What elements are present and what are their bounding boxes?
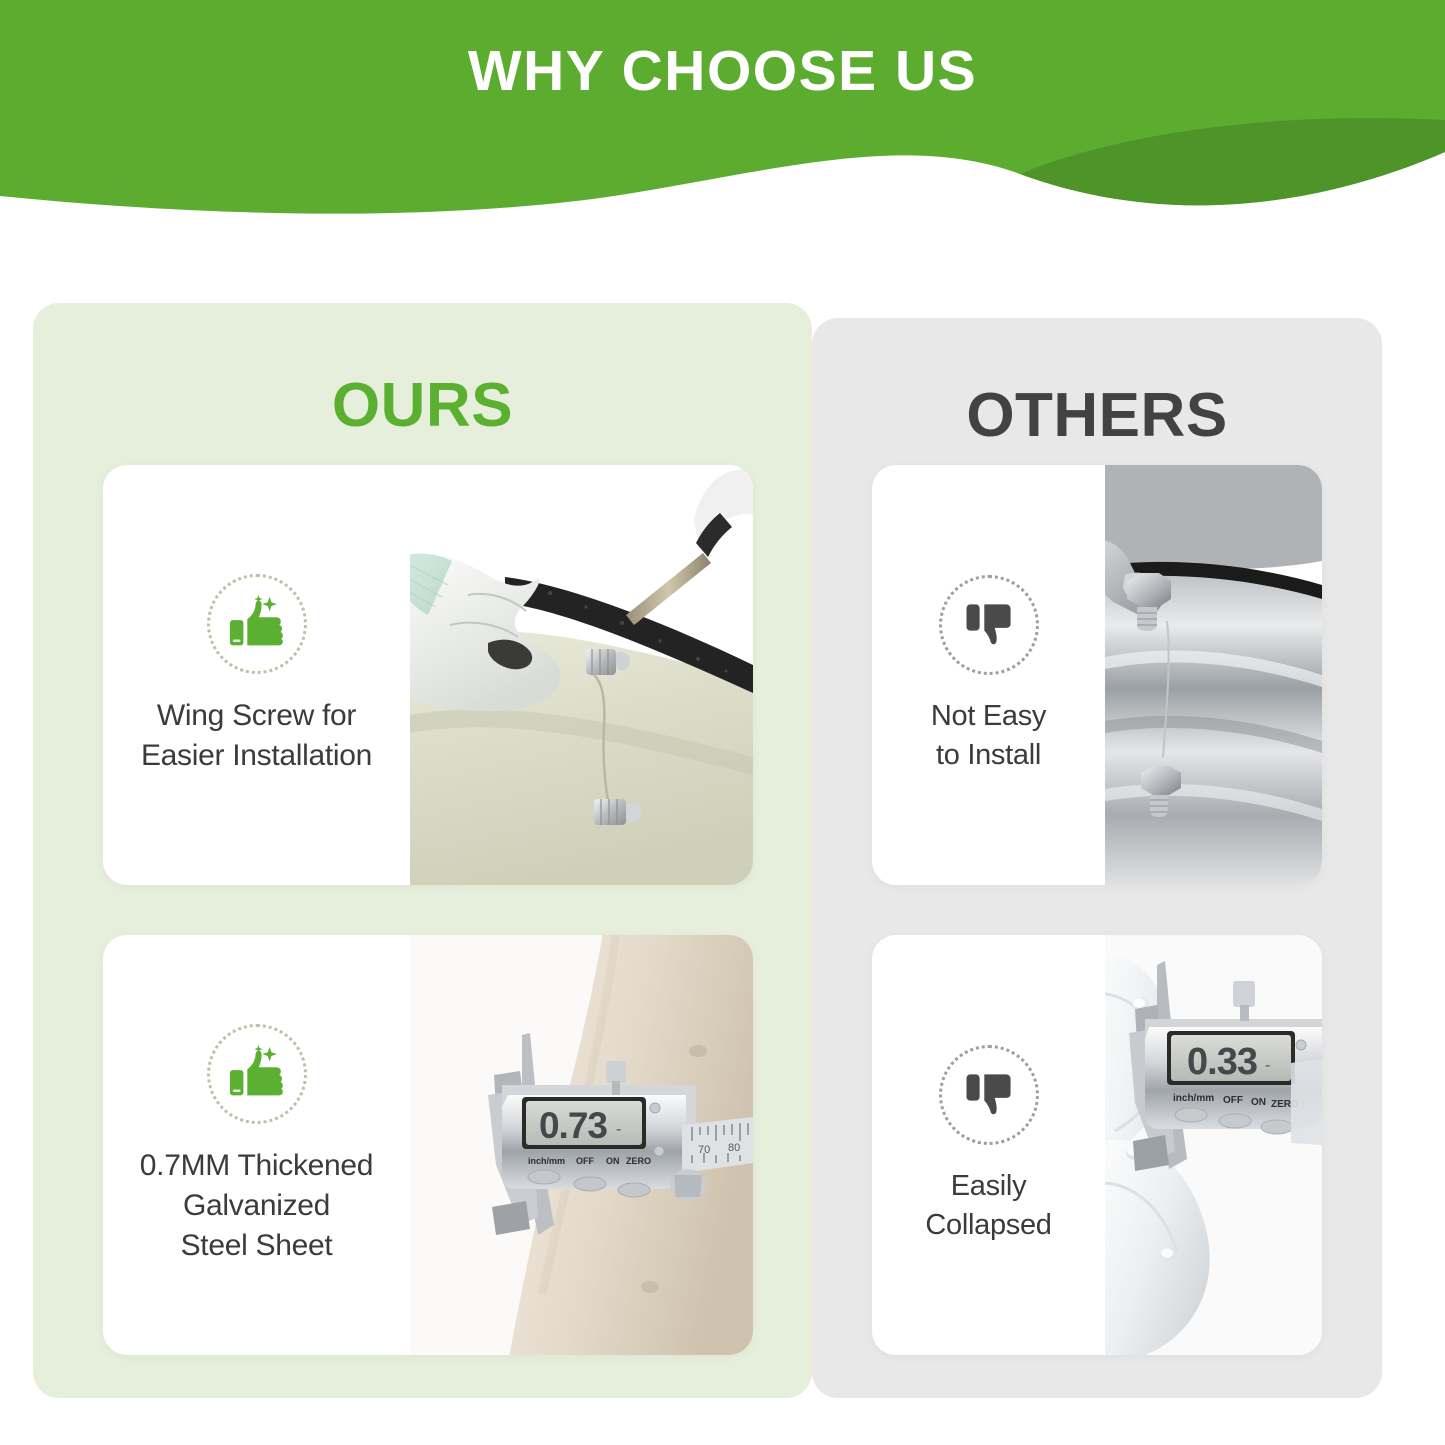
card-ours-wing-screw-content: Wing Screw for Easier Installation — [103, 465, 410, 885]
card-others-install[interactable]: Not Easy to Install — [872, 465, 1322, 885]
ruler-tick-70: 70 — [698, 1144, 710, 1156]
card-ours-thickness[interactable]: 0.7MM Thickened Galvanized Steel Sheet — [103, 935, 753, 1355]
caliper-reading-value: 0.73 — [539, 1105, 607, 1146]
card-others-install-label: Not Easy to Install — [931, 697, 1046, 774]
caliper-thin-photo-graphic: 0.33 - inch/mm OFF ON ZERO — [1105, 935, 1322, 1355]
wing-screw-installation-photo — [410, 465, 753, 885]
caliper-thin-sheet-photo: 0.33 - inch/mm OFF ON ZERO — [1105, 935, 1322, 1355]
label-line-1: Not Easy — [931, 700, 1046, 732]
card-others-install-content: Not Easy to Install — [872, 465, 1105, 885]
wrench-bolt-photo-graphic — [1105, 465, 1322, 885]
caliper-reading-value: 0.33 — [1187, 1041, 1257, 1083]
label-line-2: to Install — [936, 739, 1041, 771]
card-ours-thickness-content: 0.7MM Thickened Galvanized Steel Sheet — [103, 935, 410, 1355]
caliper-thick-sheet-photo: 0.73 - inch/mm OFF ON ZERO — [410, 935, 753, 1355]
wing-screw-photo-graphic — [410, 465, 753, 885]
label-line-1: 0.7MM Thickened — [140, 1149, 373, 1182]
card-ours-wing-screw[interactable]: Wing Screw for Easier Installation — [103, 465, 753, 885]
caliper-btn-label-on: ON — [606, 1156, 620, 1166]
svg-text:-: - — [1265, 1057, 1270, 1074]
caliper-btn-label-on: ON — [1251, 1097, 1266, 1108]
caliper-btn-label-zero: ZERO — [626, 1156, 651, 1166]
heading-ours: OURS — [33, 370, 812, 441]
thumbs-up-glyph — [226, 593, 288, 655]
thumbs-down-icon — [939, 1045, 1039, 1145]
caliper-btn-label-inchmm: inch/mm — [1173, 1093, 1214, 1104]
card-others-collapsed[interactable]: Easily Collapsed — [872, 935, 1322, 1355]
caliper-thick-photo-graphic: 0.73 - inch/mm OFF ON ZERO — [410, 935, 753, 1355]
wrench-bolt-photo — [1105, 465, 1322, 885]
thumbs-up-sparkle-icon — [207, 1024, 307, 1124]
caliper-btn-label-off: OFF — [576, 1156, 594, 1166]
heading-others: OTHERS — [812, 380, 1382, 451]
comparison-section: OURS Wing Screw for Easier Installation — [0, 0, 1445, 1445]
caliper-btn-label-inchmm: inch/mm — [528, 1156, 565, 1166]
card-ours-wing-screw-label: Wing Screw for Easier Installation — [141, 696, 372, 776]
svg-text:-: - — [616, 1121, 621, 1138]
infographic-page: WHY CHOOSE US OURS Wing Sc — [0, 0, 1445, 1445]
label-line-2: Easier Installation — [141, 739, 372, 772]
thumbs-down-glyph — [959, 1065, 1019, 1125]
label-line-1: Wing Screw for — [157, 699, 356, 732]
card-others-collapsed-content: Easily Collapsed — [872, 935, 1105, 1355]
thumbs-down-icon — [939, 575, 1039, 675]
caliper-btn-label-off: OFF — [1223, 1095, 1243, 1106]
label-line-3: Steel Sheet — [181, 1229, 333, 1262]
ruler-tick-80: 80 — [728, 1142, 740, 1154]
card-ours-thickness-label: 0.7MM Thickened Galvanized Steel Sheet — [140, 1146, 373, 1266]
thumbs-down-glyph — [959, 595, 1019, 655]
label-line-2: Galvanized — [183, 1189, 330, 1222]
card-others-collapsed-label: Easily Collapsed — [925, 1167, 1051, 1244]
label-line-1: Easily — [951, 1170, 1027, 1202]
label-line-2: Collapsed — [925, 1209, 1051, 1241]
thumbs-up-glyph — [226, 1043, 288, 1105]
thumbs-up-sparkle-icon — [207, 574, 307, 674]
